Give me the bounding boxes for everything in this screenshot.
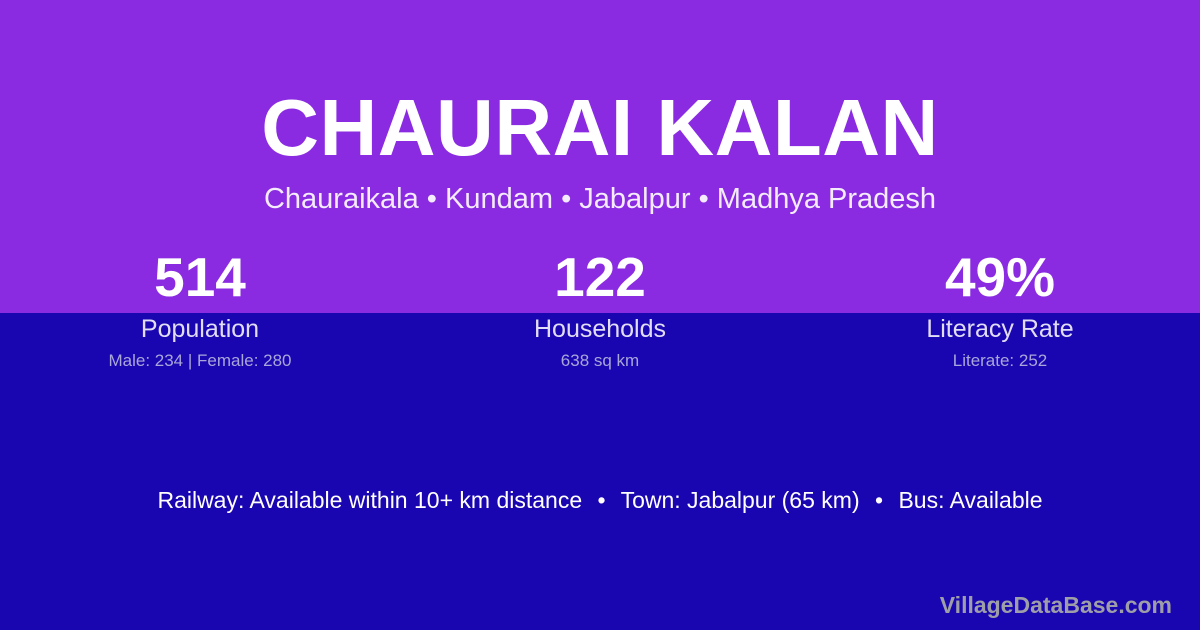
bullet-separator-icon: • xyxy=(589,484,615,516)
stat-value-literacy-rate: 49% xyxy=(800,243,1200,311)
connectivity-info-line: Railway: Available within 10+ km distanc… xyxy=(0,484,1200,516)
connectivity-railway: Railway: Available within 10+ km distanc… xyxy=(157,487,582,513)
page-title: CHAURAI KALAN xyxy=(0,84,1200,172)
stats-row: 514 Population Male: 234 | Female: 280 1… xyxy=(0,243,1200,372)
stat-label-population: Population xyxy=(0,313,400,345)
bullet-separator-icon-2: • xyxy=(866,484,892,516)
stat-sub-households: 638 sq km xyxy=(400,350,800,372)
stat-population: 514 Population Male: 234 | Female: 280 xyxy=(0,243,400,372)
stat-literacy-rate: 49% Literacy Rate Literate: 252 xyxy=(800,243,1200,372)
connectivity-town: Town: Jabalpur (65 km) xyxy=(621,487,860,513)
village-info-card: CHAURAI KALAN Chauraikala • Kundam • Jab… xyxy=(0,0,1200,630)
stat-households: 122 Households 638 sq km xyxy=(400,243,800,372)
connectivity-bus: Bus: Available xyxy=(898,487,1042,513)
stat-value-households: 122 xyxy=(400,243,800,311)
stat-label-households: Households xyxy=(400,313,800,345)
stat-value-population: 514 xyxy=(0,243,400,311)
brand-watermark: VillageDataBase.com xyxy=(940,590,1172,620)
stat-sub-population: Male: 234 | Female: 280 xyxy=(0,350,400,372)
breadcrumb: Chauraikala • Kundam • Jabalpur • Madhya… xyxy=(0,180,1200,218)
stat-label-literacy-rate: Literacy Rate xyxy=(800,313,1200,345)
stat-sub-literacy-rate: Literate: 252 xyxy=(800,350,1200,372)
